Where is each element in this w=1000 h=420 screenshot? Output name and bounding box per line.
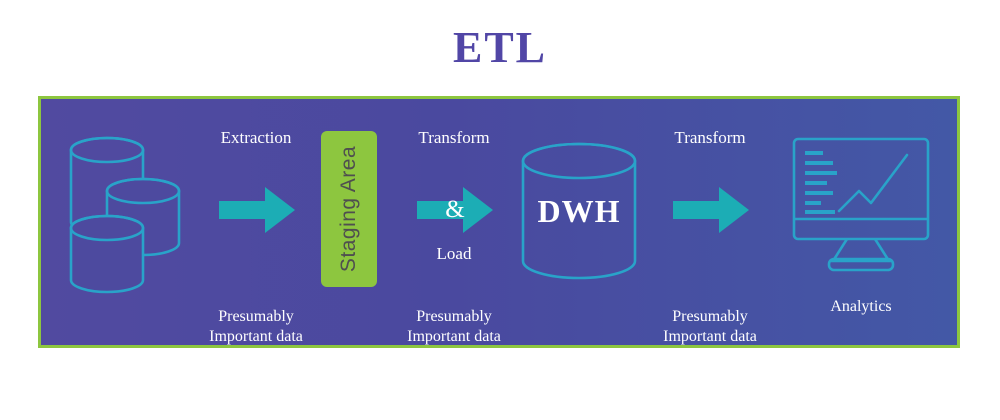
transform-load-arrow: & [417, 185, 493, 235]
transform-load-label-bottom: Load [389, 245, 519, 263]
analytics-label: Analytics [777, 299, 945, 316]
arrow-right-icon [219, 185, 295, 235]
page-title: ETL [0, 26, 1000, 70]
stage-transform-load: Transform & Load Presumably Important da… [389, 123, 519, 333]
extraction-label: Extraction [191, 129, 321, 147]
warehouse-label: DWH [519, 141, 639, 281]
stage-sources [63, 125, 193, 293]
database-stack-icon [63, 125, 193, 293]
extraction-arrow [219, 185, 295, 235]
extraction-caption: Presumably Important data [183, 307, 329, 347]
arrow-right-icon [417, 185, 493, 235]
transform-load-caption: Presumably Important data [381, 307, 527, 347]
transform-out-arrow [673, 185, 749, 235]
stage-analytics: Analytics [777, 133, 945, 333]
transform-load-label-top: Transform [389, 129, 519, 147]
transform-out-caption: Presumably Important data [637, 307, 783, 347]
stage-extraction: Extraction Presumably Important data [191, 123, 321, 333]
staging-area-label: Staging Area [337, 146, 361, 272]
transform-out-label: Transform [645, 129, 775, 147]
stage-transform-out: Transform Presumably Important data [645, 123, 775, 333]
stage-warehouse: DWH [519, 141, 639, 281]
monitor-chart-icon [777, 133, 945, 283]
etl-diagram: ETL [0, 0, 1000, 420]
staging-area-box[interactable]: Staging Area [321, 131, 377, 287]
arrow-right-icon [673, 185, 749, 235]
etl-flow-panel: Extraction Presumably Important data Sta… [38, 96, 960, 348]
